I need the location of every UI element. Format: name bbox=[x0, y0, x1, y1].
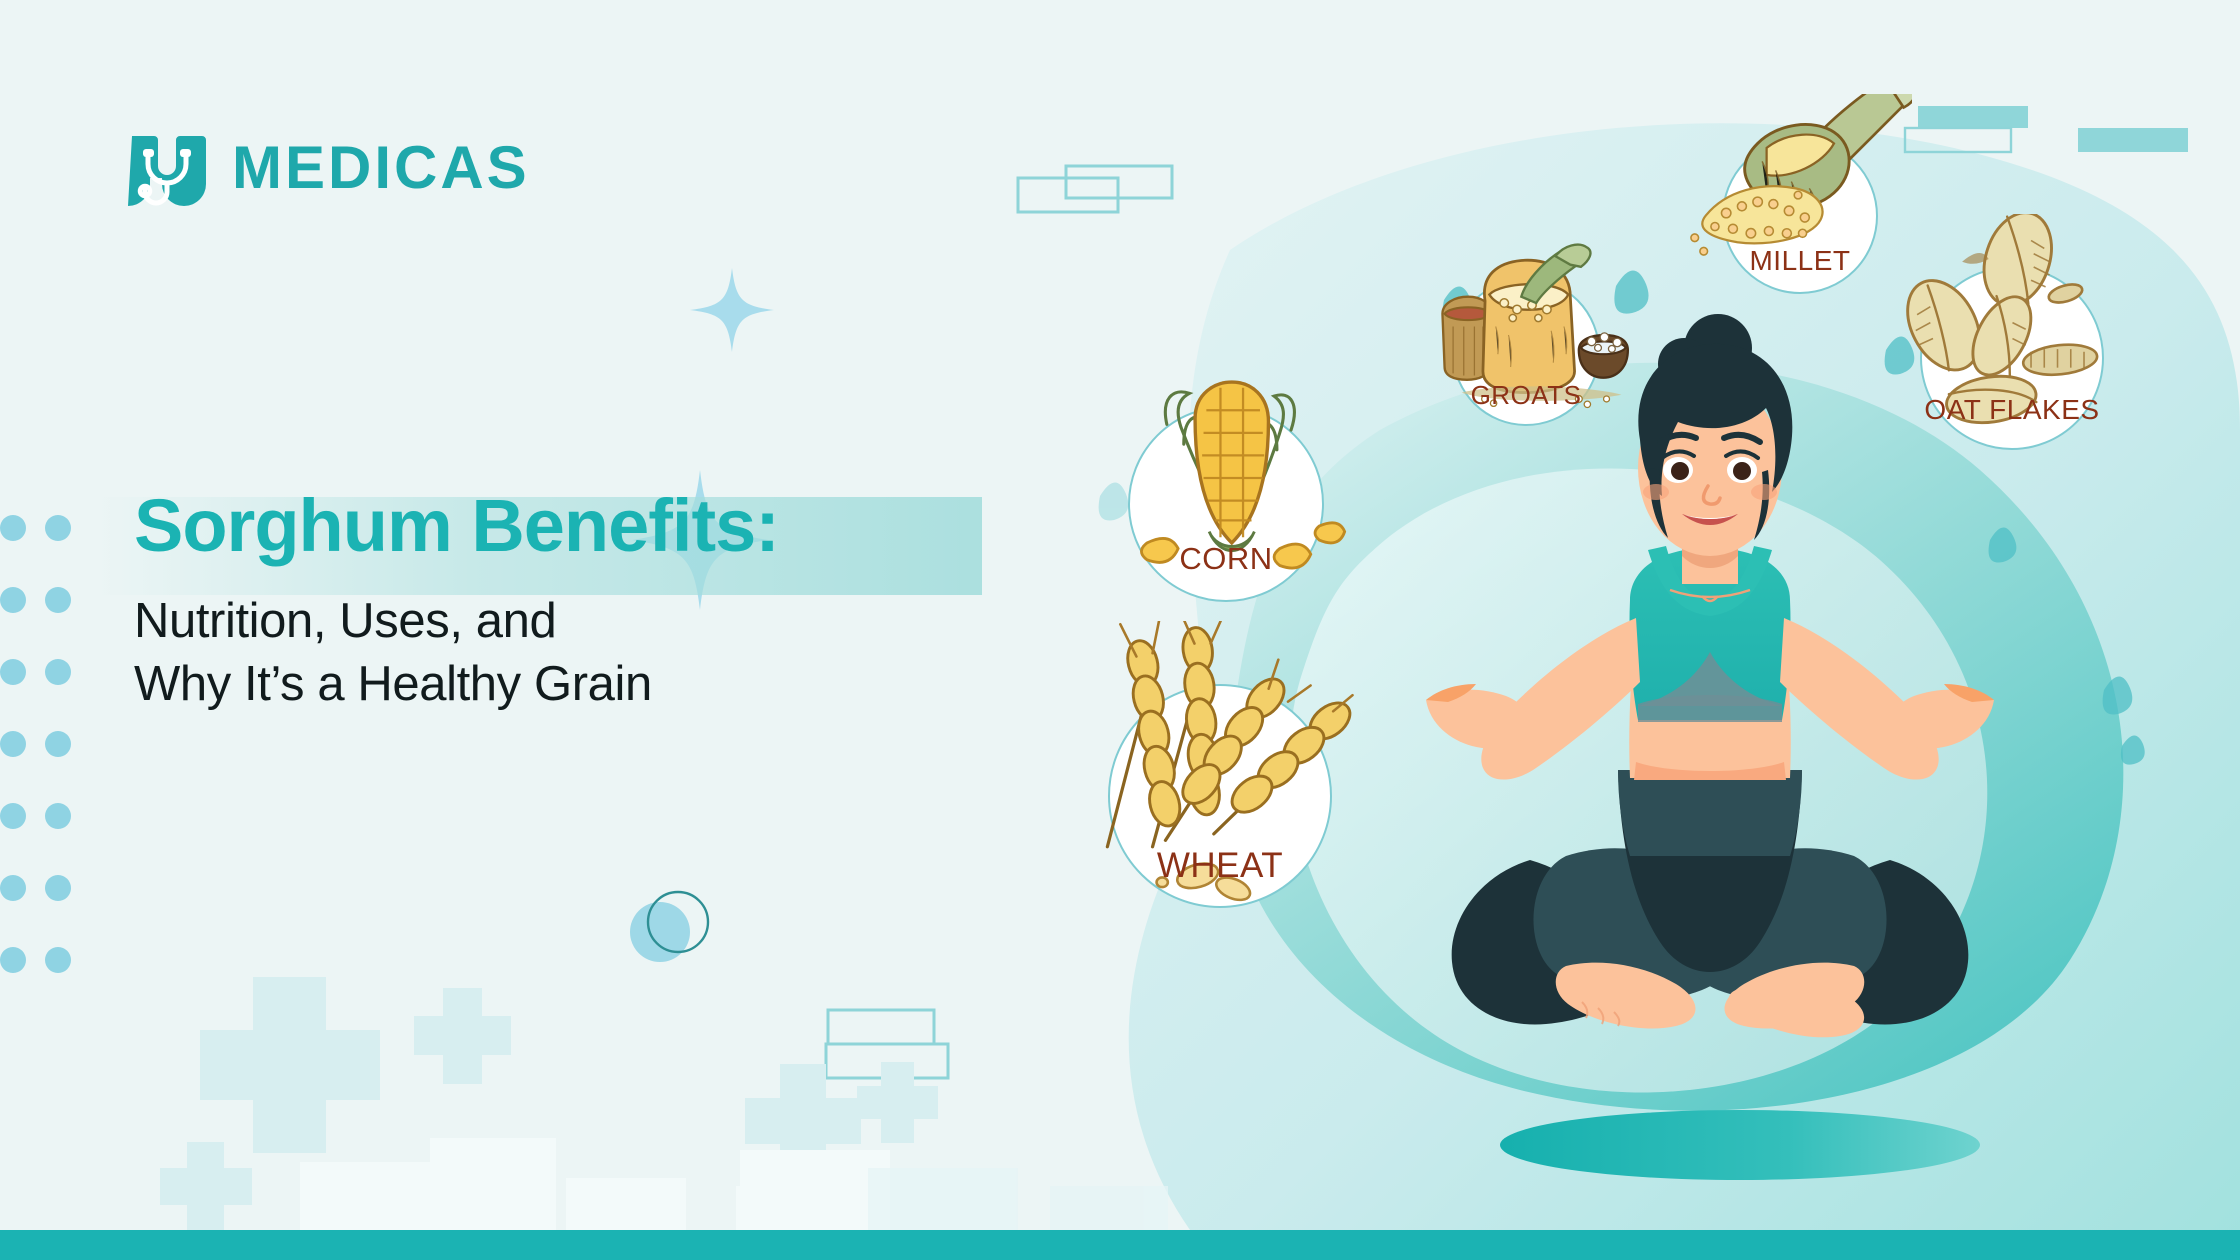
grain-badge-millet[interactable]: MILLET bbox=[1722, 138, 1878, 294]
grain-badge-corn[interactable]: CORN bbox=[1128, 406, 1324, 602]
medicas-stethoscope-m-mark bbox=[128, 128, 206, 208]
headline-block: Sorghum Benefits: Nutrition, Uses, and W… bbox=[134, 485, 1134, 716]
grain-badge-oat-flakes[interactable]: OAT FLAKES bbox=[1920, 266, 2104, 450]
oat-grains-illustration bbox=[1880, 214, 2145, 479]
badge-label: OAT FLAKES bbox=[1920, 394, 2104, 426]
footer-accent-bar bbox=[0, 1230, 2240, 1260]
grain-badge-wheat[interactable]: WHEAT bbox=[1108, 684, 1332, 908]
grain-sack-scoop-illustration bbox=[1419, 237, 1632, 450]
grain-badge-groats[interactable]: GROATS bbox=[1452, 278, 1600, 426]
brand-logo[interactable]: MEDICAS bbox=[128, 128, 530, 208]
page-subtitle: Nutrition, Uses, and Why It’s a Healthy … bbox=[134, 590, 1134, 715]
page-title: Sorghum Benefits: bbox=[134, 485, 779, 566]
title-wrapper: Sorghum Benefits: bbox=[134, 485, 779, 566]
subtitle-line-1: Nutrition, Uses, and bbox=[134, 590, 1134, 653]
wheat-stalks-illustration bbox=[1059, 621, 1382, 944]
subtitle-line-2: Why It’s a Healthy Grain bbox=[134, 653, 1134, 716]
logo-wordmark: MEDICAS bbox=[232, 138, 530, 198]
badge-label: GROATS bbox=[1452, 380, 1600, 411]
hero-banner: MEDICAS Sorghum Benefits: Nutrition, Use… bbox=[0, 0, 2240, 1260]
badge-label: WHEAT bbox=[1108, 846, 1332, 886]
badge-label: CORN bbox=[1128, 541, 1324, 577]
corn-cob-illustration bbox=[1085, 351, 1367, 633]
badge-label: MILLET bbox=[1722, 245, 1878, 277]
